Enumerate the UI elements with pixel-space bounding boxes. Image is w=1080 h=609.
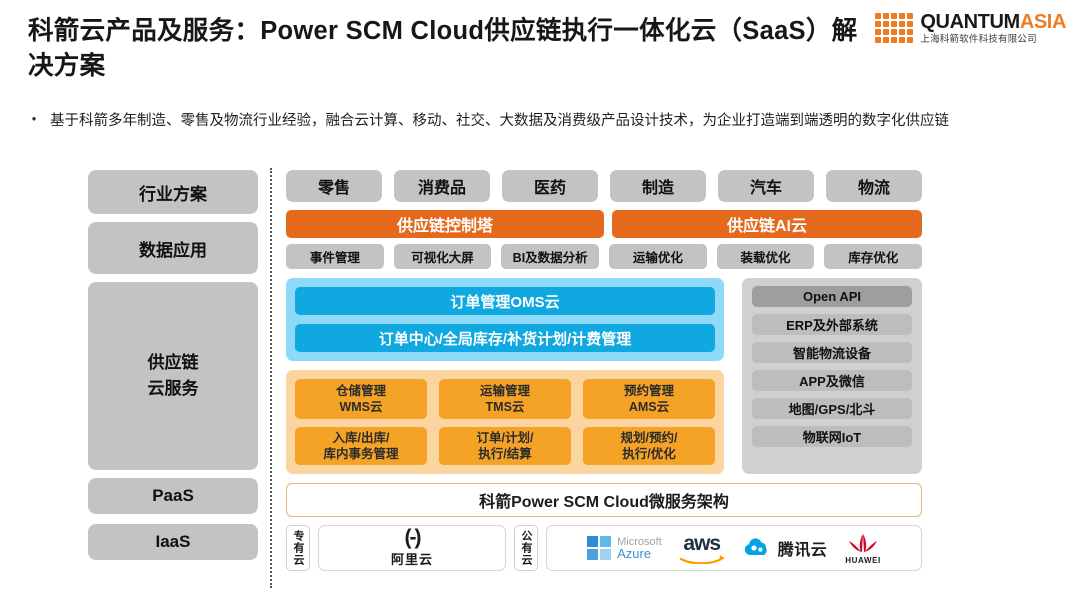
wms-fn-line1: 入库/出库/: [333, 430, 390, 446]
layer-supply-chain-cloud-line1: 供应链: [148, 350, 199, 376]
wms-cloud-box[interactable]: 仓储管理 WMS云: [295, 379, 427, 419]
industry-retail[interactable]: 零售: [286, 170, 382, 202]
wms-fn-line2: 库内事务管理: [323, 446, 398, 462]
logo-asia: ASIA: [1020, 11, 1066, 33]
layer-supply-chain-cloud-line2: 云服务: [148, 376, 199, 402]
ams-line2: AMS云: [629, 399, 669, 415]
iaas-row: 专有云 (-) 阿里云 公有云 Microsoft: [286, 525, 922, 571]
integration-iot[interactable]: 物联网IoT: [752, 426, 912, 447]
tms-line2: TMS云: [486, 399, 525, 415]
paas-microservice-bar[interactable]: 科箭Power SCM Cloud微服务架构: [286, 483, 922, 517]
integration-app-wechat[interactable]: APP及微信: [752, 370, 912, 391]
integration-smart-logistics-equipment[interactable]: 智能物流设备: [752, 342, 912, 363]
industry-automotive[interactable]: 汽车: [718, 170, 814, 202]
oms-detail-box[interactable]: 订单中心/全局库存/补货计划/计费管理: [295, 324, 715, 352]
wms-line2: WMS云: [339, 399, 382, 415]
logo-grid-icon: [875, 13, 913, 43]
wms-functions-box[interactable]: 入库/出库/ 库内事务管理: [295, 427, 427, 465]
public-cloud-tag: 公有云: [514, 525, 538, 571]
huawei-logo: HUAWEI: [845, 532, 881, 565]
ams-fn-line1: 规划/预约/: [621, 430, 678, 446]
bullet-paragraph: • 基于科箭多年制造、零售及物流行业经验，融合云计算、移动、社交、大数据及消费级…: [28, 108, 1048, 134]
app-inventory-optimization[interactable]: 库存优化: [824, 244, 922, 269]
app-visualization-dashboard[interactable]: 可视化大屏: [394, 244, 492, 269]
execution-cloud-group: 仓储管理 WMS云 运输管理 TMS云 预约管理 AMS云: [286, 370, 724, 474]
integration-erp[interactable]: ERP及外部系统: [752, 314, 912, 335]
aws-smile-icon: [680, 555, 724, 564]
oms-group: 订单管理OMS云 订单中心/全局库存/补货计划/计费管理: [286, 278, 724, 361]
page-title: 科箭云产品及服务：Power SCM Cloud供应链执行一体化云（SaaS）解…: [28, 14, 858, 84]
public-cloud-tag-label: 公有云: [518, 530, 534, 566]
alibaba-mark-icon: (-): [405, 529, 420, 547]
oms-cloud-box[interactable]: 订单管理OMS云: [295, 287, 715, 315]
wms-line1: 仓储管理: [336, 383, 386, 399]
ams-cloud-box[interactable]: 预约管理 AMS云: [583, 379, 715, 419]
aws-label: aws: [683, 533, 720, 554]
control-tower-bar[interactable]: 供应链控制塔: [286, 210, 604, 238]
layer-paas[interactable]: PaaS: [88, 478, 258, 514]
industry-pharma[interactable]: 医药: [502, 170, 598, 202]
tencent-cloud-icon: [742, 537, 772, 559]
app-loading-optimization[interactable]: 装载优化: [717, 244, 815, 269]
app-event-management[interactable]: 事件管理: [286, 244, 384, 269]
tms-line1: 运输管理: [480, 383, 530, 399]
vertical-dotted-divider: [270, 168, 272, 588]
bullet-marker: •: [28, 108, 40, 134]
integration-map-gps-beidou[interactable]: 地图/GPS/北斗: [752, 398, 912, 419]
app-transport-optimization[interactable]: 运输优化: [609, 244, 707, 269]
logo-quantum: QUANTUM: [920, 11, 1019, 33]
tencent-cloud-logo: 腾讯云: [742, 536, 828, 560]
execution-cloud-top-row: 仓储管理 WMS云 运输管理 TMS云 预约管理 AMS云: [295, 379, 715, 419]
app-bi-analytics[interactable]: BI及数据分析: [501, 244, 599, 269]
ai-cloud-bar[interactable]: 供应链AI云: [612, 210, 922, 238]
layer-data-applications[interactable]: 数据应用: [88, 222, 258, 274]
windows-squares-icon: [587, 536, 611, 560]
industry-consumer-goods[interactable]: 消费品: [394, 170, 490, 202]
private-cloud-tag-label: 专有云: [290, 530, 306, 566]
layer-industry-solutions[interactable]: 行业方案: [88, 170, 258, 214]
diagram-content-column: 零售 消费品 医药 制造 汽车 物流 供应链控制塔 供应链AI云 事件管理 可视…: [286, 170, 922, 571]
industry-row: 零售 消费品 医药 制造 汽车 物流: [286, 170, 922, 202]
logo-wordmark: QUANTUMASIA: [920, 12, 1066, 32]
alibaba-cloud-box[interactable]: (-) 阿里云: [318, 525, 506, 571]
cloud-services-right: Open API ERP及外部系统 智能物流设备 APP及微信 地图/GPS/北…: [742, 278, 922, 474]
cloud-services-left: 订单管理OMS云 订单中心/全局库存/补货计划/计费管理 仓储管理 WMS云 运…: [286, 278, 724, 474]
logo-subtitle: 上海科箭软件科技有限公司: [920, 35, 1066, 45]
azure-label: Azure: [617, 548, 662, 560]
tms-cloud-box[interactable]: 运输管理 TMS云: [439, 379, 571, 419]
industry-logistics[interactable]: 物流: [826, 170, 922, 202]
logo-text: QUANTUMASIA 上海科箭软件科技有限公司: [920, 12, 1066, 45]
huawei-label: HUAWEI: [845, 556, 881, 565]
azure-text: Microsoft Azure: [617, 536, 662, 560]
private-cloud-tag: 专有云: [286, 525, 310, 571]
layer-supply-chain-cloud[interactable]: 供应链 云服务: [88, 282, 258, 470]
aws-logo: aws: [680, 533, 724, 564]
industry-manufacturing[interactable]: 制造: [610, 170, 706, 202]
microsoft-azure-logo: Microsoft Azure: [587, 536, 662, 560]
integration-open-api[interactable]: Open API: [752, 286, 912, 307]
company-logo: QUANTUMASIA 上海科箭软件科技有限公司: [875, 12, 1066, 45]
cloud-services-band: 订单管理OMS云 订单中心/全局库存/补货计划/计费管理 仓储管理 WMS云 运…: [286, 278, 922, 474]
tms-functions-box[interactable]: 订单/计划/ 执行/结算: [439, 427, 571, 465]
alibaba-cloud-label: 阿里云: [391, 549, 433, 568]
execution-cloud-bottom-row: 入库/出库/ 库内事务管理 订单/计划/ 执行/结算 规划/预约/ 执行/优化: [295, 427, 715, 465]
tms-fn-line1: 订单/计划/: [477, 430, 534, 446]
layer-iaas[interactable]: IaaS: [88, 524, 258, 560]
slide-root: 科箭云产品及服务：Power SCM Cloud供应链执行一体化云（SaaS）解…: [0, 0, 1080, 609]
integration-column: Open API ERP及外部系统 智能物流设备 APP及微信 地图/GPS/北…: [742, 278, 922, 474]
alibaba-cloud-logo: (-) 阿里云: [391, 529, 433, 568]
ams-fn-line2: 执行/优化: [622, 446, 675, 462]
huawei-flower-icon: [846, 532, 880, 554]
layer-label-column: 行业方案 数据应用 供应链 云服务 PaaS IaaS: [88, 170, 258, 560]
tencent-cloud-label: 腾讯云: [778, 536, 828, 560]
data-application-row: 事件管理 可视化大屏 BI及数据分析 运输优化 装载优化 库存优化: [286, 244, 922, 269]
ams-functions-box[interactable]: 规划/预约/ 执行/优化: [583, 427, 715, 465]
bullet-text: 基于科箭多年制造、零售及物流行业经验，融合云计算、移动、社交、大数据及消费级产品…: [50, 108, 949, 134]
orange-bar-row: 供应链控制塔 供应链AI云: [286, 210, 922, 238]
architecture-diagram: 行业方案 数据应用 供应链 云服务 PaaS IaaS 零售 消费品 医药 制造…: [0, 170, 1080, 590]
public-cloud-providers-box[interactable]: Microsoft Azure aws: [546, 525, 922, 571]
tms-fn-line2: 执行/结算: [478, 446, 531, 462]
ams-line1: 预约管理: [624, 383, 674, 399]
